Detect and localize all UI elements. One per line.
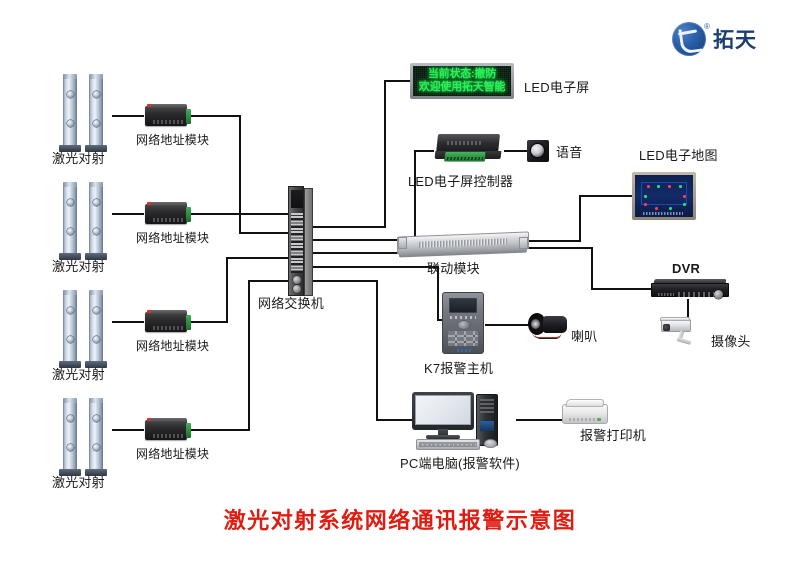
network-address-module-1 <box>143 103 191 129</box>
linkage-module <box>397 232 529 258</box>
network-address-module-4 <box>143 417 191 443</box>
k7-alarm-host <box>442 292 484 354</box>
pc-label: PC端电脑(报警软件) <box>400 453 520 472</box>
registered-mark: ® <box>704 22 710 31</box>
horn-siren <box>528 311 572 341</box>
voice-label: 语音 <box>556 142 582 161</box>
wire-switch-ledscreen <box>312 81 410 227</box>
linkage-module-label: 联动模块 <box>427 258 480 277</box>
wire-switch-pc <box>312 281 412 420</box>
horn-label: 喇叭 <box>571 326 597 345</box>
camera-label: 摄像头 <box>711 331 751 350</box>
network-switch <box>288 186 314 296</box>
led-map-label: LED电子地图 <box>639 145 718 164</box>
brand-logo: ® 拓天 <box>672 22 757 56</box>
tuotian-circular-logo-icon <box>672 22 706 56</box>
led-electronic-map <box>632 172 696 220</box>
k7-alarm-host-label: K7报警主机 <box>424 358 493 377</box>
laser-tower-1-label: 激光对射 <box>52 148 105 167</box>
network-address-module-2 <box>143 201 191 227</box>
led-screen-line1: 当前状态:撤防 <box>428 68 496 81</box>
network-address-module-2-label: 网络地址模块 <box>136 229 209 246</box>
network-address-module-3-label: 网络地址模块 <box>136 337 209 354</box>
led-screen-line2: 欢迎使用拓天智能 <box>419 81 505 94</box>
laser-tower-pair-3 <box>57 288 113 374</box>
network-address-module-4-label: 网络地址模块 <box>136 445 209 462</box>
laser-tower-pair-4 <box>57 396 113 482</box>
laser-tower-2-label: 激光对射 <box>52 256 105 275</box>
wire-linkage-ledmap <box>529 196 632 241</box>
laser-tower-4-label: 激光对射 <box>52 472 105 491</box>
wire-linkage-dvr <box>529 248 651 289</box>
network-address-module-1-label: 网络地址模块 <box>136 131 209 148</box>
laser-tower-pair-2 <box>57 180 113 266</box>
network-switch-label: 网络交换机 <box>258 293 324 312</box>
wire-netmod3-switch <box>191 258 290 322</box>
cctv-camera <box>655 316 701 350</box>
diagram-title: 激光对射系统网络通讯报警示意图 <box>0 503 800 535</box>
laser-tower-3-label: 激光对射 <box>52 364 105 383</box>
voice-speaker-module <box>527 140 549 162</box>
laser-tower-pair-1 <box>57 72 113 158</box>
led-screen-label: LED电子屏 <box>524 77 590 96</box>
printer-label: 报警打印机 <box>580 425 646 444</box>
network-address-module-3 <box>143 309 191 335</box>
led-electronic-screen: 当前状态:撤防 欢迎使用拓天智能 <box>410 63 514 99</box>
desktop-computer <box>412 392 516 454</box>
brand-name: 拓天 <box>713 24 757 54</box>
dvr-label: DVR <box>672 261 700 276</box>
led-screen-controller <box>433 132 503 164</box>
dvr-recorder <box>651 279 729 301</box>
led-controller-label: LED电子屏控制器 <box>408 171 513 190</box>
diagram-canvas: ® 拓天 激光对射 激光对射 激光对射 激光对射 网络地址模块 网络地址模块 网… <box>0 0 800 579</box>
